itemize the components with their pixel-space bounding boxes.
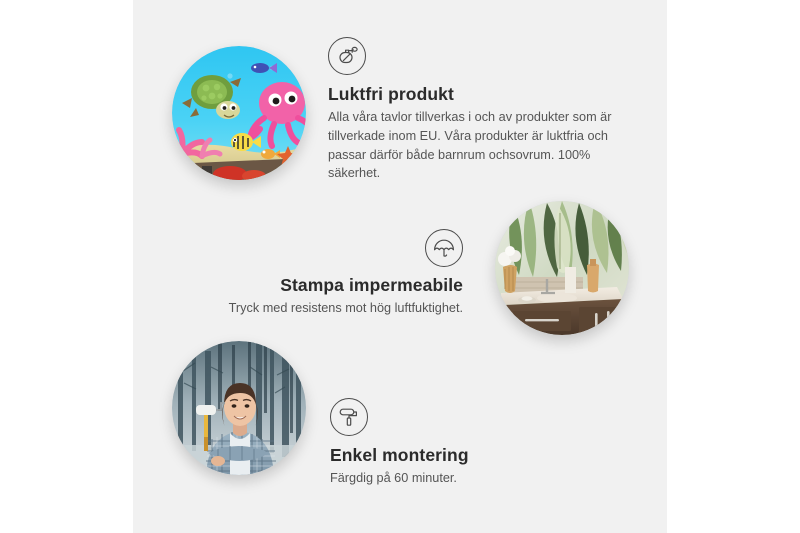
feature-stage: Luktfri produkt Alla våra tavlor tillver…: [133, 0, 667, 533]
left-margin: [0, 0, 133, 533]
feature-title: Luktfri produkt: [328, 84, 633, 105]
no-fragrance-icon: [328, 37, 366, 75]
photo-bathroom-wallpaper: [495, 201, 629, 335]
feature-waterproof: Stampa impermeabile Tryck med resistens …: [208, 229, 463, 318]
photo-decorator-forest-image: [172, 341, 306, 475]
feature-description: Tryck med resistens mot hög luftfuktighe…: [208, 299, 463, 318]
photo-bathroom-wallpaper-image: [495, 201, 629, 335]
feature-title: Stampa impermeabile: [208, 275, 463, 296]
feature-description: Färgdig på 60 minuter.: [330, 469, 620, 488]
right-margin: [667, 0, 800, 533]
feature-title: Enkel montering: [330, 445, 620, 466]
photo-ocean-mural: [172, 46, 306, 180]
paint-roller-icon: [330, 398, 368, 436]
feature-easy-assembly: Enkel montering Färgdig på 60 minuter.: [330, 398, 620, 488]
photo-ocean-mural-image: [172, 46, 306, 180]
feature-description: Alla våra tavlor tillverkas i och av pro…: [328, 108, 633, 183]
umbrella-icon: [425, 229, 463, 267]
feature-odour-free: Luktfri produkt Alla våra tavlor tillver…: [328, 37, 633, 183]
photo-decorator-forest: [172, 341, 306, 475]
product-feature-panel: Luktfri produkt Alla våra tavlor tillver…: [0, 0, 800, 533]
